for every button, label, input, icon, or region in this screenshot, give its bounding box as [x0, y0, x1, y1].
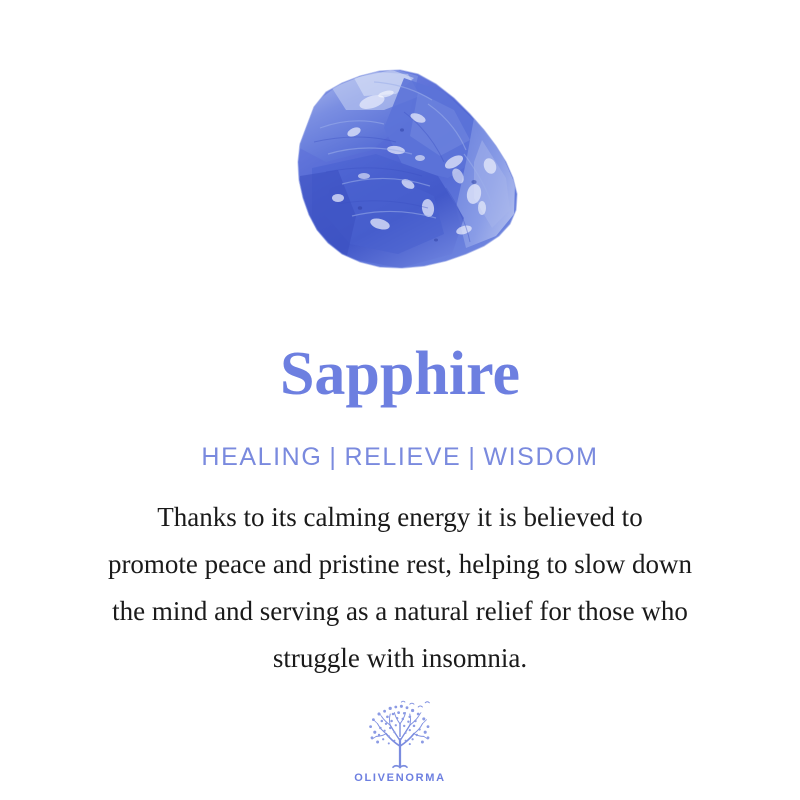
description-line-2: promote peace and pristine rest, helping…	[20, 541, 780, 588]
keyword-separator-1: |	[322, 443, 344, 471]
keyword-subtitle: HEALING|RELIEVE|WISDOM	[201, 405, 598, 472]
description-line-4: struggle with insomnia.	[20, 635, 780, 682]
logo-wordmark: OLIVENORMA	[354, 772, 446, 784]
description-line-3: the mind and serving as a natural relief…	[20, 588, 780, 635]
sapphire-stone-image	[268, 58, 532, 290]
brand-logo: OLIVENORMA	[340, 700, 460, 784]
hero-image-area	[0, 0, 800, 305]
description-text: Thanks to its calming energy it is belie…	[20, 472, 780, 682]
keyword-healing: HEALING	[201, 443, 322, 471]
description-line-1: Thanks to its calming energy it is belie…	[20, 494, 780, 541]
keyword-wisdom: WISDOM	[483, 443, 598, 471]
keyword-relieve: RELIEVE	[345, 443, 462, 471]
rough-sapphire-crystal-icon	[268, 58, 532, 290]
page-title: Sapphire	[280, 305, 520, 405]
keyword-separator-2: |	[461, 443, 483, 471]
gemstone-info-card: Sapphire HEALING|RELIEVE|WISDOM Thanks t…	[0, 0, 800, 800]
olive-tree-icon	[358, 700, 442, 770]
